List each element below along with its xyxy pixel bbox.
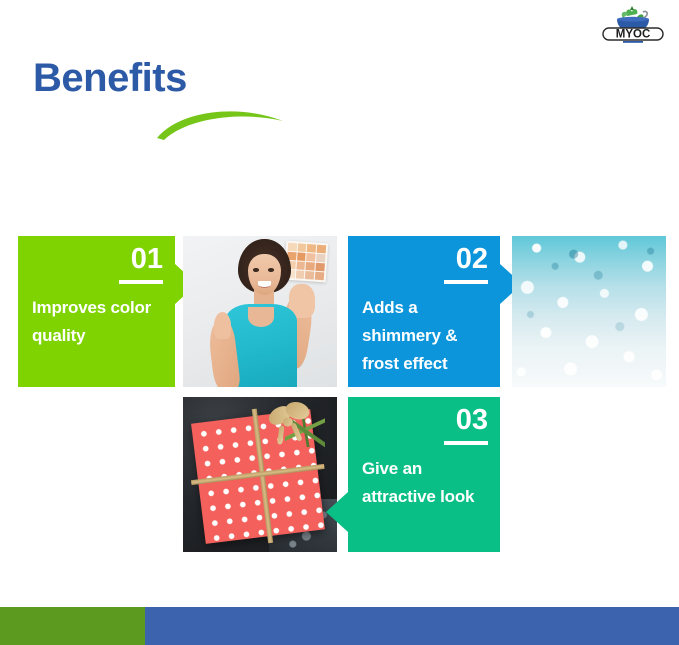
bottom-accent-bar (0, 607, 679, 645)
benefit-caption-02: Adds a shimmery & frost effect (362, 294, 488, 378)
benefit-caption-03: Give an attractive look (362, 455, 488, 511)
benefit-number-underline-01 (119, 280, 163, 284)
benefit-grid: 01 Improves color quality (0, 0, 679, 645)
benefit-card-02[interactable]: 02 Adds a shimmery & frost effect (348, 236, 500, 387)
red-polka-dot-gift-box-photo (183, 397, 337, 552)
benefit-number-03: 03 (456, 405, 488, 435)
benefit-card-03[interactable]: 03 Give an attractive look (348, 397, 500, 552)
benefit-number-underline-03 (444, 441, 488, 445)
twine-bow (267, 401, 318, 447)
benefit-card-01[interactable]: 01 Improves color quality (18, 236, 175, 387)
woman-thumbs-up-color-swatch-photo (183, 236, 337, 387)
benefit-number-underline-02 (444, 280, 488, 284)
bottom-bar-blue-segment (145, 607, 679, 645)
benefit-number-01: 01 (131, 244, 163, 274)
bottom-bar-green-segment (0, 607, 145, 645)
frost-shimmer-crystals-photo (512, 236, 666, 387)
benefit-caption-01: Improves color quality (32, 294, 163, 350)
benefit-number-02: 02 (456, 244, 488, 274)
